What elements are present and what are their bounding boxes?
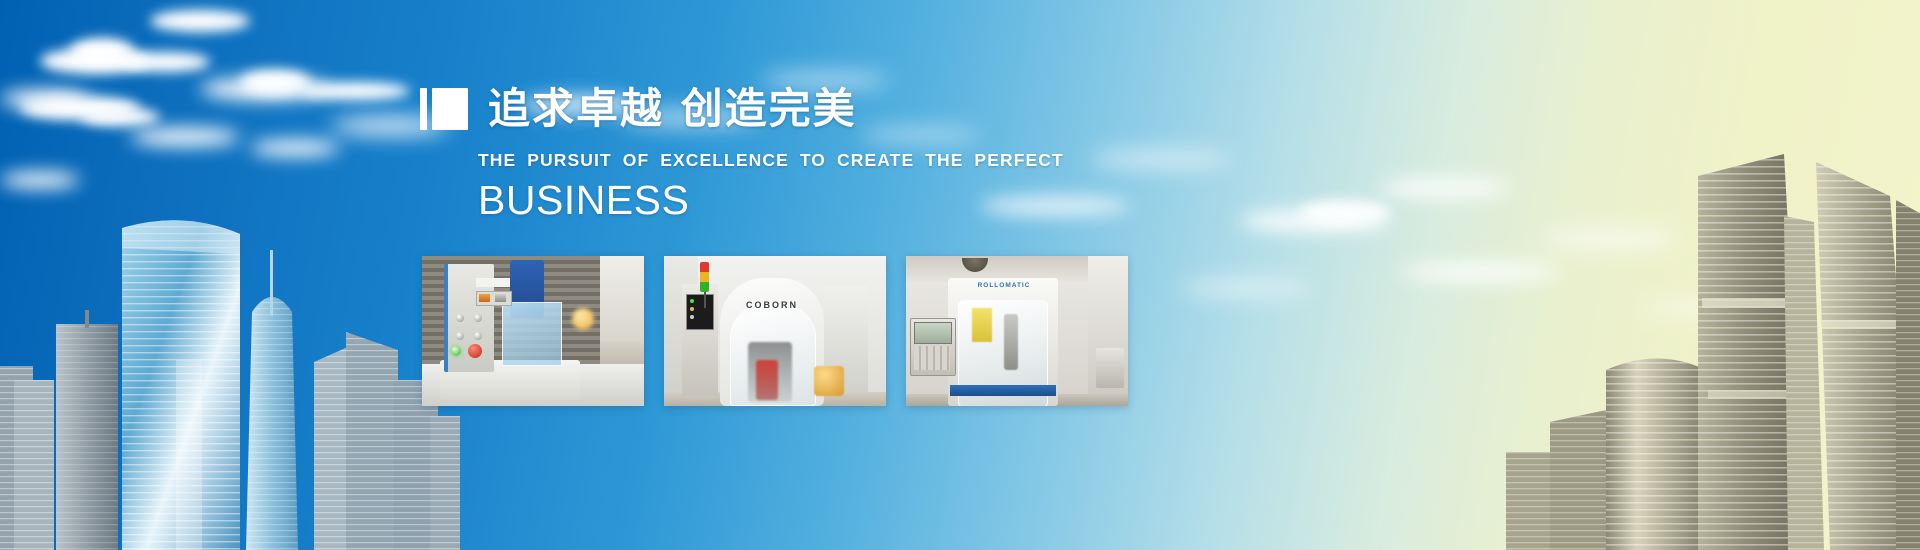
- photo1-display: [476, 278, 510, 287]
- hero-banner: 追求卓越 创造完美 THE PURSUIT OF EXCELLENCE TO C…: [0, 0, 1920, 550]
- photo1-emergency-stop-button: [468, 344, 482, 358]
- photo1-knob: [474, 332, 482, 340]
- cloud: [1540, 230, 1680, 248]
- photo1-glass-guard: [502, 302, 562, 366]
- cloud: [0, 172, 80, 188]
- photo3-yellow-panel: [972, 308, 992, 342]
- cloud: [150, 10, 250, 32]
- photo-machine-coborn[interactable]: COBORN: [664, 256, 886, 406]
- photo1-warm-lamp-glow: [572, 308, 594, 330]
- cloud: [80, 108, 160, 126]
- headline-block: 追求卓越 创造完美 THE PURSUIT OF EXCELLENCE TO C…: [420, 88, 1120, 223]
- photo2-led: [690, 307, 694, 311]
- photo3-hmi-screen: [914, 322, 952, 344]
- cloud: [130, 128, 240, 146]
- cloud: [300, 82, 410, 100]
- cloud: [1640, 300, 1770, 316]
- cloud: [250, 140, 340, 156]
- bar-square-logo-icon: [420, 88, 468, 130]
- photo3-side-box: [1096, 348, 1124, 388]
- photo1-knob: [474, 314, 482, 322]
- business-word: BUSINESS: [478, 178, 1120, 223]
- photo1-indicator-pair: [476, 291, 512, 306]
- photo-strip: COBORN ROLLOMATIC: [422, 256, 1128, 406]
- photo-machine-enclosure-hmi[interactable]: ROLLOMATIC: [906, 256, 1128, 406]
- photo1-indicator-grey: [495, 294, 506, 302]
- photo3-brand-label: ROLLOMATIC: [962, 282, 1046, 289]
- photo2-red-fixture: [756, 360, 778, 400]
- cloud: [120, 52, 210, 72]
- photo1-knob: [456, 332, 464, 340]
- logo-bar-shape: [420, 88, 427, 130]
- logo-square-shape: [432, 88, 468, 130]
- tagline-english: THE PURSUIT OF EXCELLENCE TO CREATE THE …: [478, 150, 1120, 171]
- photo2-stack-light: [700, 262, 709, 292]
- photo3-spindle: [1004, 314, 1018, 370]
- cityscape-left: [0, 130, 460, 550]
- photo2-led: [690, 315, 694, 319]
- photo2-controller-face: [686, 294, 714, 330]
- photo2-stack-light-pole: [704, 290, 706, 308]
- headline-row: 追求卓越 创造完美: [420, 88, 1120, 130]
- photo3-hmi-keypad: [914, 346, 950, 370]
- photo1-indicator-amber: [479, 294, 490, 302]
- photo2-led: [690, 299, 694, 303]
- photo2-yellow-drum: [814, 366, 844, 396]
- page-title: 追求卓越 创造完美: [488, 88, 857, 130]
- photo1-green-start-button: [451, 346, 461, 356]
- photo1-knob: [456, 314, 464, 322]
- photo3-blue-base-stripe: [950, 385, 1056, 396]
- photo-machine-control-panel[interactable]: [422, 256, 644, 406]
- cloud: [1300, 200, 1390, 224]
- photo2-brand-label: COBORN: [720, 300, 824, 310]
- cloud: [1380, 178, 1510, 198]
- cloud: [1180, 280, 1310, 296]
- cloud: [1400, 262, 1560, 282]
